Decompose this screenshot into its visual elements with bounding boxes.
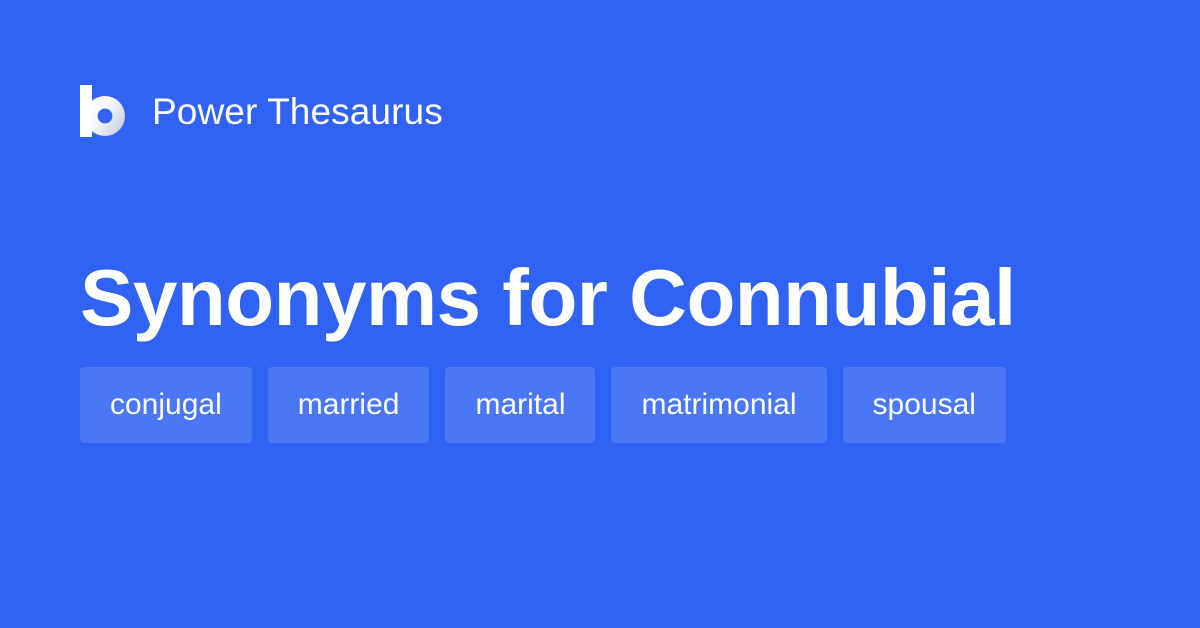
synonym-tag-list: conjugal married marital matrimonial spo…	[80, 367, 1120, 443]
synonym-tag[interactable]: marital	[445, 367, 595, 443]
synonym-tag[interactable]: matrimonial	[611, 367, 826, 443]
brand-lockup[interactable]: Power Thesaurus	[80, 82, 443, 140]
power-thesaurus-b-logo-icon	[80, 85, 126, 137]
synonym-share-card: Power Thesaurus Synonyms for Connubial c…	[0, 0, 1200, 628]
page-title: Synonyms for Connubial	[80, 250, 1130, 346]
synonym-tag[interactable]: spousal	[843, 367, 1006, 443]
brand-name: Power Thesaurus	[152, 93, 443, 130]
synonym-tag[interactable]: conjugal	[80, 367, 252, 443]
synonym-tag[interactable]: married	[268, 367, 430, 443]
